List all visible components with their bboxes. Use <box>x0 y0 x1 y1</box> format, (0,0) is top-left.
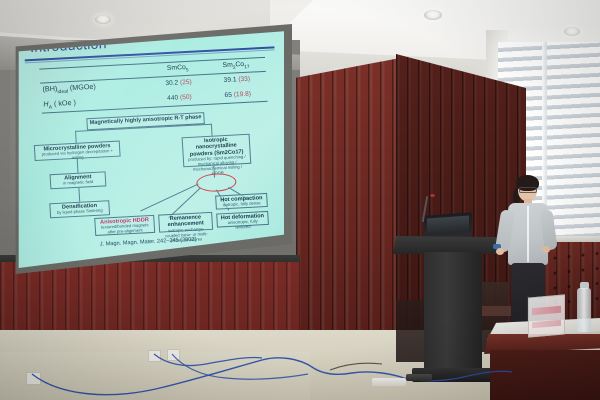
flow-box-hot-deformation: Hot deformation anisotropic, fully textu… <box>216 211 269 228</box>
downlight-icon <box>564 27 580 36</box>
left-hand <box>496 248 504 255</box>
slide-content: Introduction SmCo5 Sm2Co17 (BH)ideal (MG… <box>16 30 284 268</box>
laptop-screen <box>427 216 469 234</box>
slide-citation: J. Magn. Magn. Mater. 242–245 (2002) <box>100 237 197 248</box>
flow-box-anisotropic-hddr: Anisotropic HDDR textured/bonded magnets… <box>94 215 155 236</box>
cable-path <box>330 363 382 370</box>
microphone-head <box>430 194 435 197</box>
connector <box>77 159 79 173</box>
projection-screen: Introduction SmCo5 Sm2Co17 (BH)ideal (MG… <box>16 30 284 268</box>
conference-room-photo: Introduction SmCo5 Sm2Co17 (BH)ideal (MG… <box>0 0 600 400</box>
downlight-icon <box>424 10 442 20</box>
power-strip <box>372 378 406 386</box>
shirt-placket <box>527 206 529 262</box>
cable-path <box>32 358 404 395</box>
flow-box-hot-compaction: Hot compaction isotropic, fully dense <box>215 193 268 210</box>
connector <box>211 124 213 136</box>
downlight-icon <box>95 15 111 24</box>
name-card-band <box>532 320 561 329</box>
flow-box-remanence-enhancement: Remanence enhancement isotropic exchange… <box>158 212 213 233</box>
connector <box>75 131 77 143</box>
cable-path <box>154 354 262 366</box>
right-hand <box>542 246 550 253</box>
power-adapter <box>406 374 432 381</box>
name-card-band <box>532 306 561 316</box>
flow-box-densification: Densification by liquid phase Sintering <box>49 200 110 218</box>
laptop <box>424 212 472 239</box>
glasses-icon <box>519 187 537 193</box>
connector <box>78 188 80 202</box>
flow-box-isotropic-nanocrystalline-powders: Isotropic nanocrystalline powders (Sm2Co… <box>182 134 252 168</box>
slide-comparison-table: SmCo5 Sm2Co17 (BH)ideal (MGOe) 30.2 (25)… <box>39 57 267 114</box>
water-bottle <box>577 288 591 332</box>
floor-cables <box>0 330 600 400</box>
flow-box-alignment: Alignment in magnetic field <box>50 171 107 189</box>
